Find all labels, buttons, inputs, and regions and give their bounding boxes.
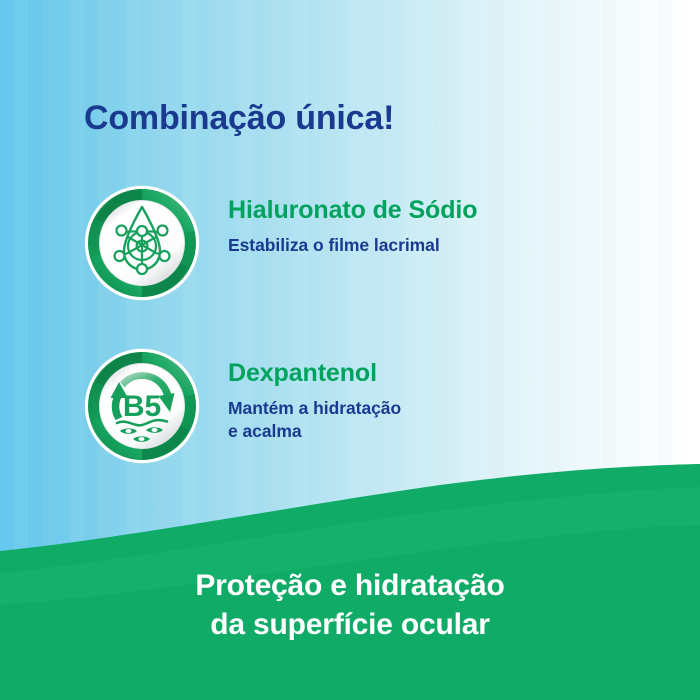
vitamin-b5-hydration-cells-icon: B5 [84,348,200,464]
benefit-subtitle: Mantém a hidratação e acalma [228,397,401,443]
badge-b5-label: B5 [123,390,161,423]
benefit-title: Hialuronato de Sódio [228,197,477,225]
benefit-title: Dexpantenol [228,360,401,388]
page-title: Combinação única! [84,99,394,138]
banner-headline: Proteção e hidratação da superfície ocul… [0,567,700,644]
benefit-text-block: Dexpantenol Mantém a hidratação e acalma [228,348,401,443]
benefit-text-block: Hialuronato de Sódio Estabiliza o filme … [228,185,477,257]
hyaluronic-acid-droplet-molecule-icon [84,185,200,301]
benefit-item-hyaluronate: Hialuronato de Sódio Estabiliza o filme … [84,185,477,301]
benefit-subtitle: Estabiliza o filme lacrimal [228,234,477,257]
benefit-item-dexpanthenol: B5 Dexpantenol Mantém a hidra [84,348,401,464]
promo-poster: Combinação única! [0,0,700,700]
